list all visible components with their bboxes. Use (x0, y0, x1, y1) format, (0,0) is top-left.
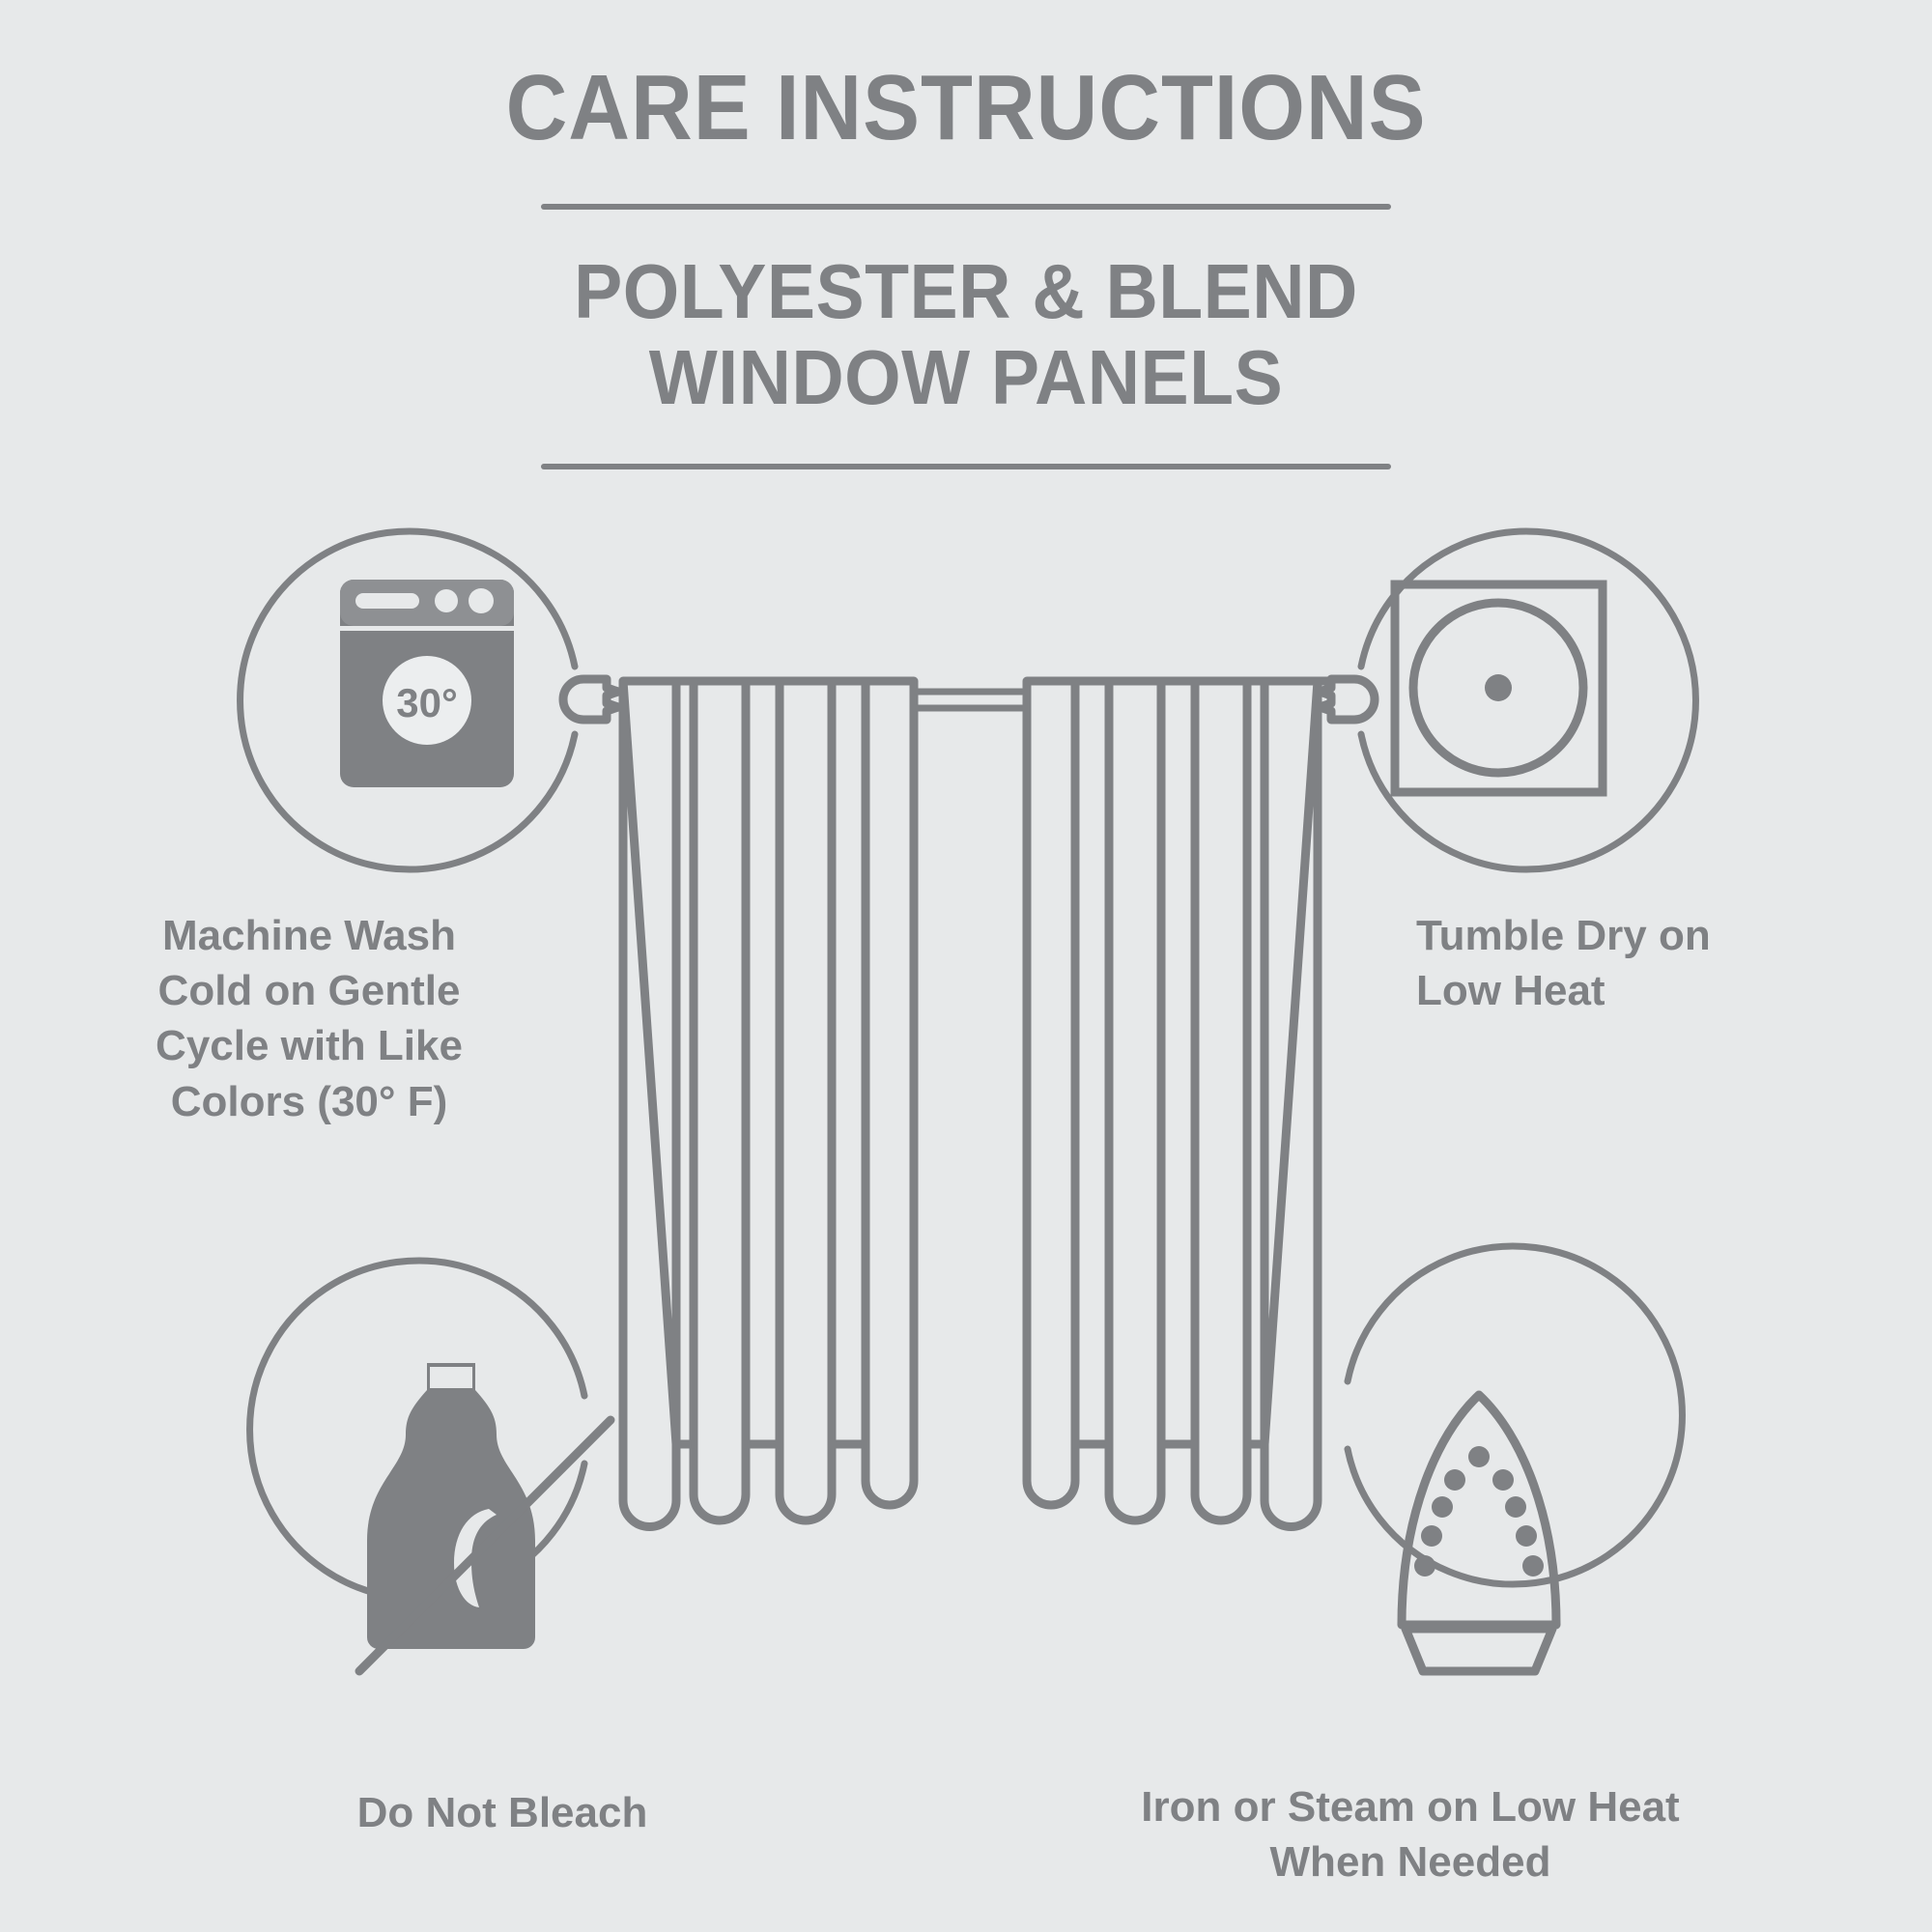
rod-finial-left (563, 679, 618, 720)
caption-tumble-dry: Tumble Dry on Low Heat (1416, 908, 1870, 1018)
caption-do-not-bleach: Do Not Bleach (280, 1785, 724, 1840)
symbol-machine-wash: 30° (241, 531, 575, 869)
symbol-tumble-dry (1361, 531, 1695, 869)
curtain-panel-left (623, 681, 914, 1527)
tumble-dry-low-icon (1395, 584, 1603, 792)
wash-temperature-label: 30° (396, 680, 458, 725)
washing-machine-icon: 30° (340, 580, 514, 787)
iron-circle (1348, 1246, 1682, 1584)
no-bleach-icon (359, 1363, 611, 1671)
curtain-rod (916, 692, 1022, 708)
iron-icon (1402, 1395, 1556, 1671)
symbol-iron (1348, 1246, 1682, 1671)
curtain-panel-right (1027, 681, 1328, 1527)
caption-iron: Iron or Steam on Low Heat When Needed (1043, 1779, 1777, 1889)
care-instructions-label: CARE INSTRUCTIONS POLYESTER & BLENDWINDO… (0, 0, 1932, 1932)
symbol-do-not-bleach (250, 1261, 611, 1671)
curtain-illustration (563, 679, 1375, 1527)
caption-machine-wash: Machine Wash Cold on Gentle Cycle with L… (97, 908, 522, 1129)
